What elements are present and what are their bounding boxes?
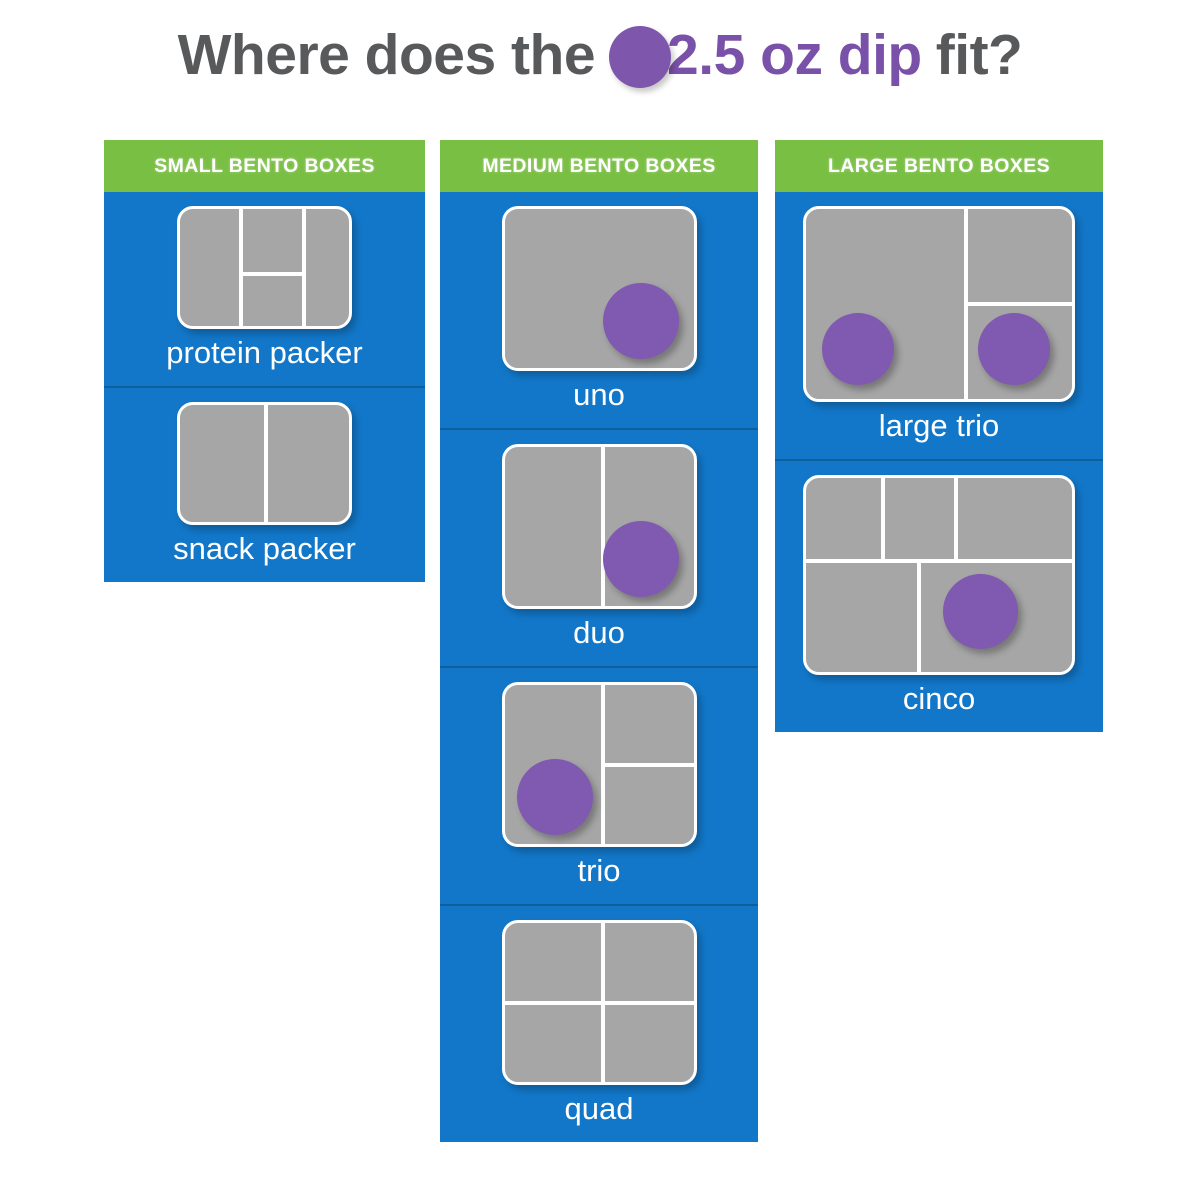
- divider-vertical-left: [239, 208, 243, 327]
- divider-vertical-center: [601, 446, 605, 607]
- dip-circle-icon: [822, 313, 894, 385]
- box-label-duo: duo: [440, 609, 758, 658]
- box-label-trio: trio: [440, 847, 758, 896]
- box-graphic-snack-packer: [104, 402, 425, 525]
- box-label-quad: quad: [440, 1085, 758, 1134]
- column-medium-bento-boxes: MEDIUM BENTO BOXES uno duo trio: [440, 140, 758, 1142]
- dip-circle-icon: [603, 521, 679, 597]
- column-large-bento-boxes: LARGE BENTO BOXES large trio cinco: [775, 140, 1103, 732]
- divider-vertical-top-right: [954, 477, 958, 561]
- column-header-large: LARGE BENTO BOXES: [775, 140, 1103, 192]
- purple-dip-circle-icon: [609, 26, 671, 88]
- box-card-cinco[interactable]: cinco: [775, 461, 1103, 732]
- box-label-uno: uno: [440, 371, 758, 420]
- column-header-small: SMALL BENTO BOXES: [104, 140, 425, 192]
- dip-circle-icon: [943, 574, 1018, 649]
- box-label-snack-packer: snack packer: [104, 525, 425, 574]
- box-graphic-uno: [440, 206, 758, 371]
- box-card-uno[interactable]: uno: [440, 192, 758, 430]
- divider-horizontal-right: [964, 302, 1074, 306]
- box-card-snack-packer[interactable]: snack packer: [104, 388, 425, 582]
- box-card-trio[interactable]: trio: [440, 668, 758, 906]
- divider-vertical-bottom: [917, 559, 921, 674]
- box-graphic-duo: [440, 444, 758, 609]
- title-lead-text: Where does the: [178, 22, 595, 88]
- box-label-cinco: cinco: [775, 675, 1103, 724]
- box-graphic-trio: [440, 682, 758, 847]
- divider-horizontal-center: [504, 1001, 695, 1005]
- box-card-quad[interactable]: quad: [440, 906, 758, 1142]
- divider-horizontal-right: [601, 763, 696, 767]
- dip-circle-icon: [603, 283, 679, 359]
- column-small-bento-boxes: SMALL BENTO BOXES protein packer snack p…: [104, 140, 425, 582]
- box-card-protein-packer[interactable]: protein packer: [104, 192, 425, 388]
- title-accent-text: 2.5 oz dip: [667, 22, 922, 88]
- divider-horizontal-center: [805, 559, 1073, 563]
- divider-vertical-right: [302, 208, 306, 327]
- box-card-large-trio[interactable]: large trio: [775, 192, 1103, 461]
- dip-circle-icon: [978, 313, 1050, 385]
- box-graphic-quad: [440, 920, 758, 1085]
- box-graphic-protein-packer: [104, 206, 425, 329]
- box-label-protein-packer: protein packer: [104, 329, 425, 378]
- box-label-large-trio: large trio: [775, 402, 1103, 451]
- box-card-duo[interactable]: duo: [440, 430, 758, 668]
- divider-vertical-top-left: [881, 477, 885, 561]
- box-graphic-large-trio: [775, 206, 1103, 402]
- divider-vertical-center: [264, 404, 268, 523]
- dip-circle-icon: [517, 759, 593, 835]
- divider-horizontal-middle: [239, 272, 306, 276]
- box-graphic-cinco: [775, 475, 1103, 675]
- page-title: Where does the 2.5 oz dip fit?: [0, 0, 1200, 110]
- title-tail-text: fit?: [936, 22, 1023, 88]
- column-header-medium: MEDIUM BENTO BOXES: [440, 140, 758, 192]
